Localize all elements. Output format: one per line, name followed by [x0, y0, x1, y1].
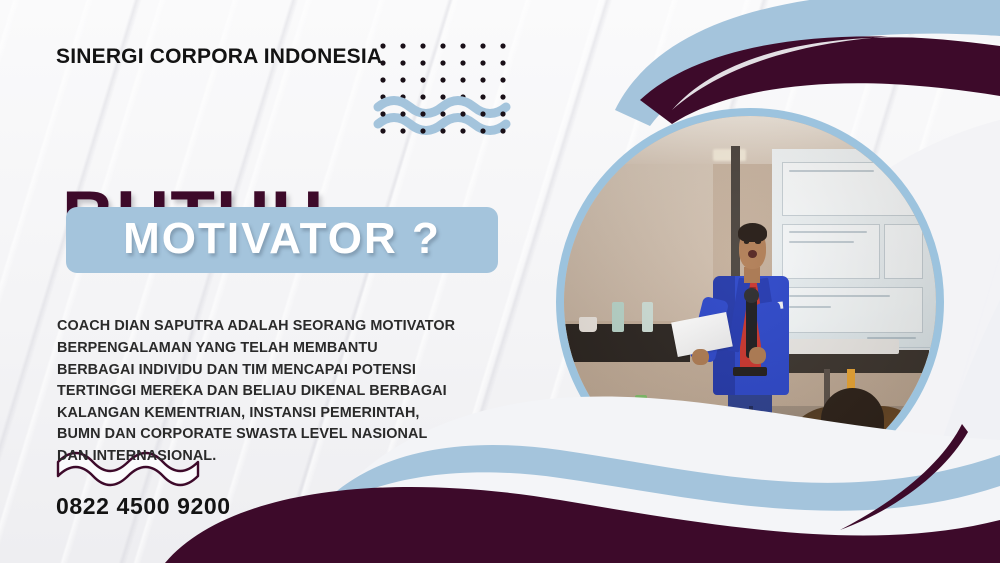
speaker-photo [556, 108, 944, 496]
poster-canvas: SINERGI CORPORA INDONESIA BUTUH MOTIVATO… [0, 0, 1000, 563]
speaker-photo-image [564, 116, 936, 488]
subheadline-banner: MOTIVATOR ? [66, 207, 498, 273]
subheadline-text: MOTIVATOR ? [123, 214, 441, 264]
brand-name: SINERGI CORPORA INDONESIA [56, 45, 382, 69]
contact-phone-number[interactable]: 0822 4500 9200 [56, 493, 231, 520]
body-paragraph: COACH DIAN SAPUTRA ADALAH SEORANG MOTIVA… [57, 316, 457, 467]
